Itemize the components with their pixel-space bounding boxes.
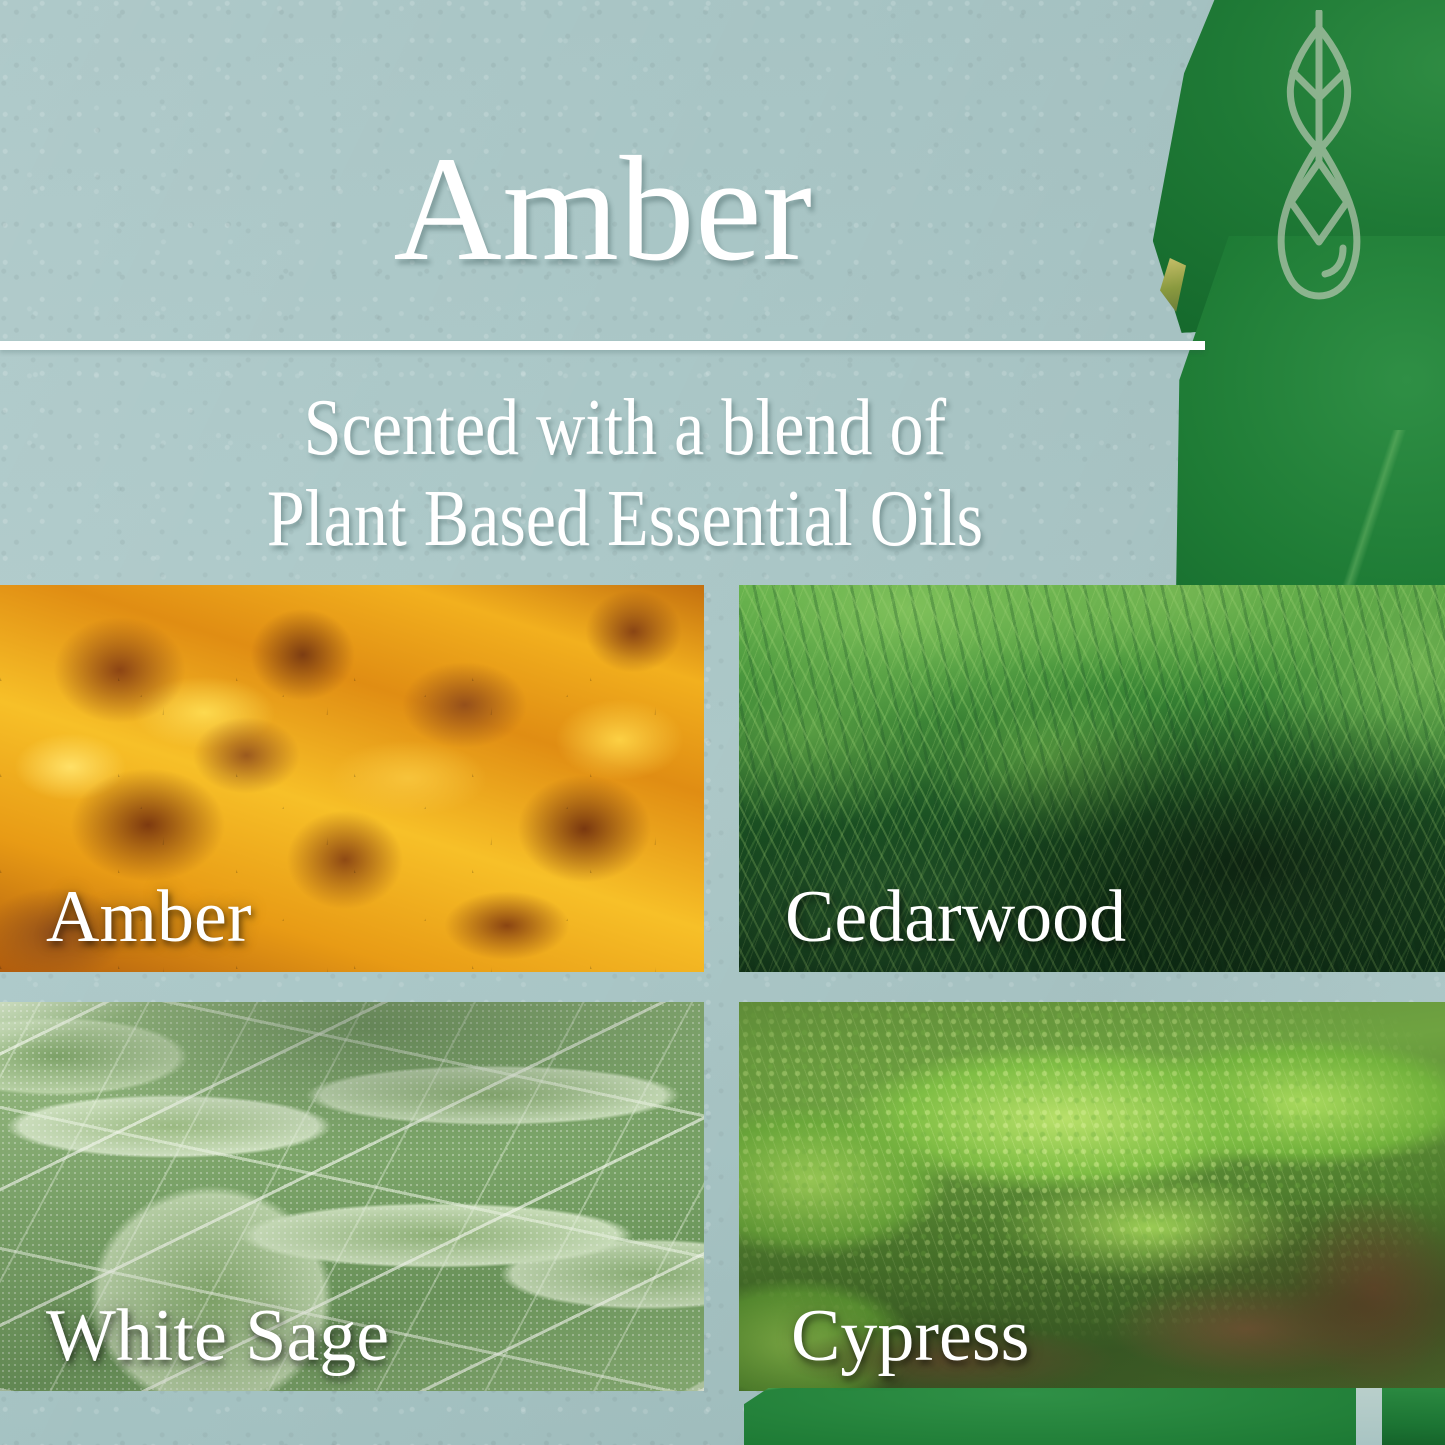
- ingredient-tile-cypress: Cypress: [739, 1002, 1445, 1391]
- green-leaf-decoration-bottom-right: [1382, 1388, 1445, 1445]
- ingredient-tile-amber: Amber: [0, 585, 704, 972]
- brand-watermark-logo: [1259, 10, 1379, 330]
- subtitle-text: Scented with a blend of Plant Based Esse…: [100, 382, 1150, 563]
- ingredient-label-amber: Amber: [46, 880, 252, 954]
- ingredient-label-cypress: Cypress: [791, 1299, 1029, 1373]
- leaf-vein-highlight: [1246, 430, 1445, 600]
- product-graphic-canvas: Amber Scented with a blend of Plant Base…: [0, 0, 1445, 1445]
- ingredient-tile-white-sage: White Sage: [0, 1002, 704, 1391]
- background-gap-sliver: [1356, 1388, 1384, 1445]
- page-title: Amber: [0, 134, 1206, 284]
- ingredient-tile-cedarwood: Cedarwood: [739, 585, 1445, 972]
- title-divider: [0, 341, 1205, 350]
- green-leaf-decoration-bottom: [744, 1388, 1356, 1445]
- ingredient-label-cedarwood: Cedarwood: [785, 880, 1126, 954]
- ingredient-label-white-sage: White Sage: [46, 1299, 389, 1373]
